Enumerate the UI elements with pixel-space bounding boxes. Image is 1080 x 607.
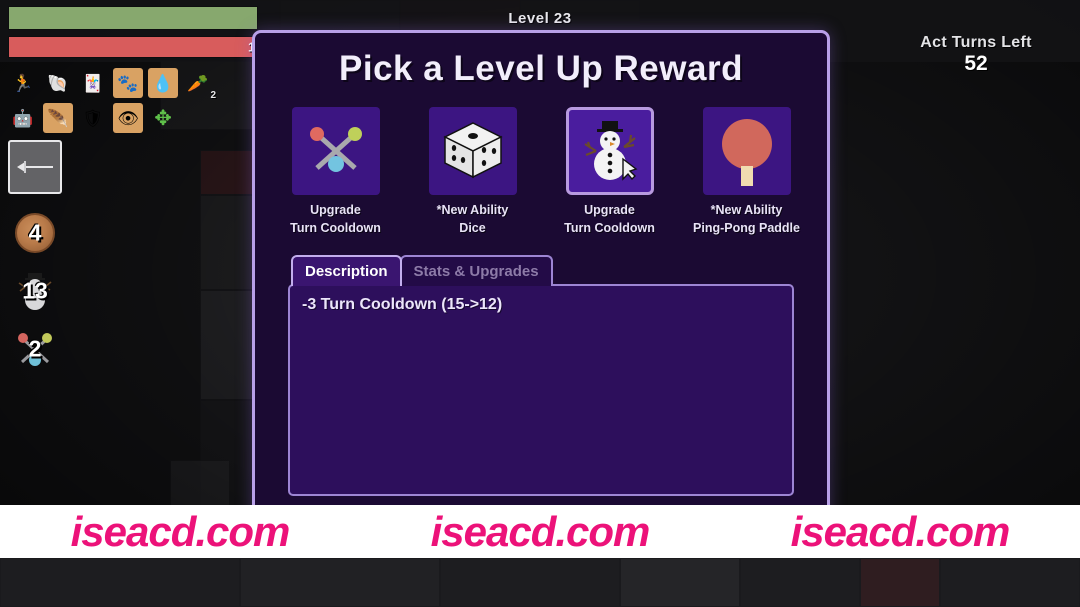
- bottom-board-strip: [0, 558, 1080, 607]
- reward-tile-selected[interactable]: [566, 107, 654, 195]
- playing-card-icon[interactable]: 🃏: [78, 68, 108, 98]
- icon-glyph: 👁: [117, 110, 139, 127]
- sidebar-darts-token[interactable]: 2: [8, 322, 62, 376]
- reward-label-line2: Turn Cooldown: [277, 219, 394, 237]
- eye-icon[interactable]: 👁: [113, 103, 143, 133]
- watermark-text: iseacd.com: [431, 508, 650, 556]
- reward-tile[interactable]: [703, 107, 791, 195]
- reward-new-ability-dice[interactable]: *New Ability Dice: [414, 107, 531, 237]
- sidebar-wood-token[interactable]: 4: [8, 206, 62, 260]
- ability-sidebar: 4 13 2: [8, 140, 68, 380]
- shell-icon[interactable]: 🐚: [43, 68, 73, 98]
- icon-glyph: 🥕: [187, 75, 208, 92]
- board-tile: [0, 558, 240, 607]
- crossed-darts-icon: [305, 120, 367, 182]
- feather-icon[interactable]: 🪶: [43, 103, 73, 133]
- snowman-icon: [576, 117, 644, 185]
- board-tile: [440, 558, 620, 607]
- reward-options: Upgrade Turn Cooldown: [255, 107, 827, 237]
- game-screen: Level 23 119 Act Turns Left 52 🏃 🐚 🃏 🐾 💧…: [0, 0, 1080, 607]
- reward-label-line1: Upgrade: [551, 203, 668, 219]
- status-effects: 🏃 🐚 🃏 🐾 💧 🥕 2 🤖 🪶 🛡 👁 ✥: [8, 68, 258, 138]
- reward-tile[interactable]: [292, 107, 380, 195]
- carrot-count: 2: [210, 91, 216, 101]
- stamina-bar-fill: [9, 7, 257, 29]
- reward-tile[interactable]: [429, 107, 517, 195]
- board-tile: [740, 558, 860, 607]
- act-turns-panel: Act Turns Left 52: [886, 34, 1066, 76]
- icon-glyph: 🤖: [12, 110, 33, 127]
- reward-label-line1: *New Ability: [414, 203, 531, 219]
- board-tile: [860, 558, 940, 607]
- watermark-band: iseacd.com iseacd.com iseacd.com: [0, 505, 1080, 558]
- watermark-text: iseacd.com: [791, 508, 1010, 556]
- water-drop-icon[interactable]: 💧: [148, 68, 178, 98]
- icon-glyph: 🏃: [12, 75, 33, 92]
- health-bar-fill: 119: [9, 37, 275, 57]
- icon-glyph: 🛡: [82, 110, 104, 127]
- reward-new-ability-ping-pong-paddle[interactable]: *New Ability Ping-Pong Paddle: [688, 107, 805, 237]
- reward-label-line1: Upgrade: [277, 203, 394, 219]
- health-bar: 119: [8, 36, 276, 58]
- icon-glyph: 💧: [152, 75, 173, 92]
- claw-marks-icon[interactable]: 🐾: [113, 68, 143, 98]
- icon-glyph: 🃏: [82, 75, 103, 92]
- modal-title: Pick a Level Up Reward: [255, 49, 827, 89]
- board-tile: [620, 558, 740, 607]
- reward-upgrade-turn-cooldown-snowman[interactable]: Upgrade Turn Cooldown: [551, 107, 668, 237]
- icon-glyph: 🐚: [47, 75, 68, 92]
- icon-glyph: 🪶: [47, 110, 68, 127]
- tab-stats-and-upgrades[interactable]: Stats & Upgrades: [400, 255, 553, 286]
- board-tile: [940, 558, 1080, 607]
- tab-description[interactable]: Description: [291, 255, 402, 286]
- status-effects-row-2: 🤖 🪶 🛡 👁 ✥: [8, 103, 258, 133]
- info-tabs: Description Stats & Upgrades: [291, 253, 827, 284]
- dice-icon: [439, 117, 507, 185]
- ability-slot-spear[interactable]: [8, 140, 62, 194]
- reward-label-line1: *New Ability: [688, 203, 805, 219]
- reward-label-line2: Turn Cooldown: [551, 219, 668, 237]
- ping-pong-paddle-icon: [714, 116, 780, 186]
- sidebar-wood-count: 4: [29, 220, 42, 247]
- shield-icon[interactable]: 🛡: [78, 103, 108, 133]
- description-text: -3 Turn Cooldown (15->12): [302, 296, 780, 314]
- stamina-bar: [8, 6, 258, 30]
- sidebar-darts-count: 2: [29, 336, 42, 363]
- carrot-icon[interactable]: 🥕 2: [183, 68, 213, 98]
- icon-glyph: ✥: [154, 108, 172, 129]
- board-tile: [240, 558, 440, 607]
- sprinting-figure-icon[interactable]: 🏃: [8, 68, 38, 98]
- watermark-text: iseacd.com: [71, 508, 290, 556]
- move-arrows-icon[interactable]: ✥: [148, 103, 178, 133]
- status-effects-row-1: 🏃 🐚 🃏 🐾 💧 🥕 2: [8, 68, 258, 98]
- robot-figure-icon[interactable]: 🤖: [8, 103, 38, 133]
- reward-label-line2: Ping-Pong Paddle: [688, 219, 805, 237]
- level-up-reward-modal: Pick a Level Up Reward Upgrade Turn Cool…: [252, 30, 830, 530]
- act-turns-value: 52: [886, 52, 1066, 76]
- spear-icon: [15, 157, 55, 177]
- reward-label-line2: Dice: [414, 219, 531, 237]
- sidebar-snowman-count: 13: [22, 278, 48, 305]
- icon-glyph: 🐾: [117, 75, 138, 92]
- act-turns-label: Act Turns Left: [886, 34, 1066, 52]
- reward-upgrade-turn-cooldown-darts[interactable]: Upgrade Turn Cooldown: [277, 107, 394, 237]
- description-panel: -3 Turn Cooldown (15->12): [288, 284, 794, 496]
- sidebar-snowman-token[interactable]: 13: [8, 264, 62, 318]
- board-tile-grid-bottom: [0, 558, 1080, 607]
